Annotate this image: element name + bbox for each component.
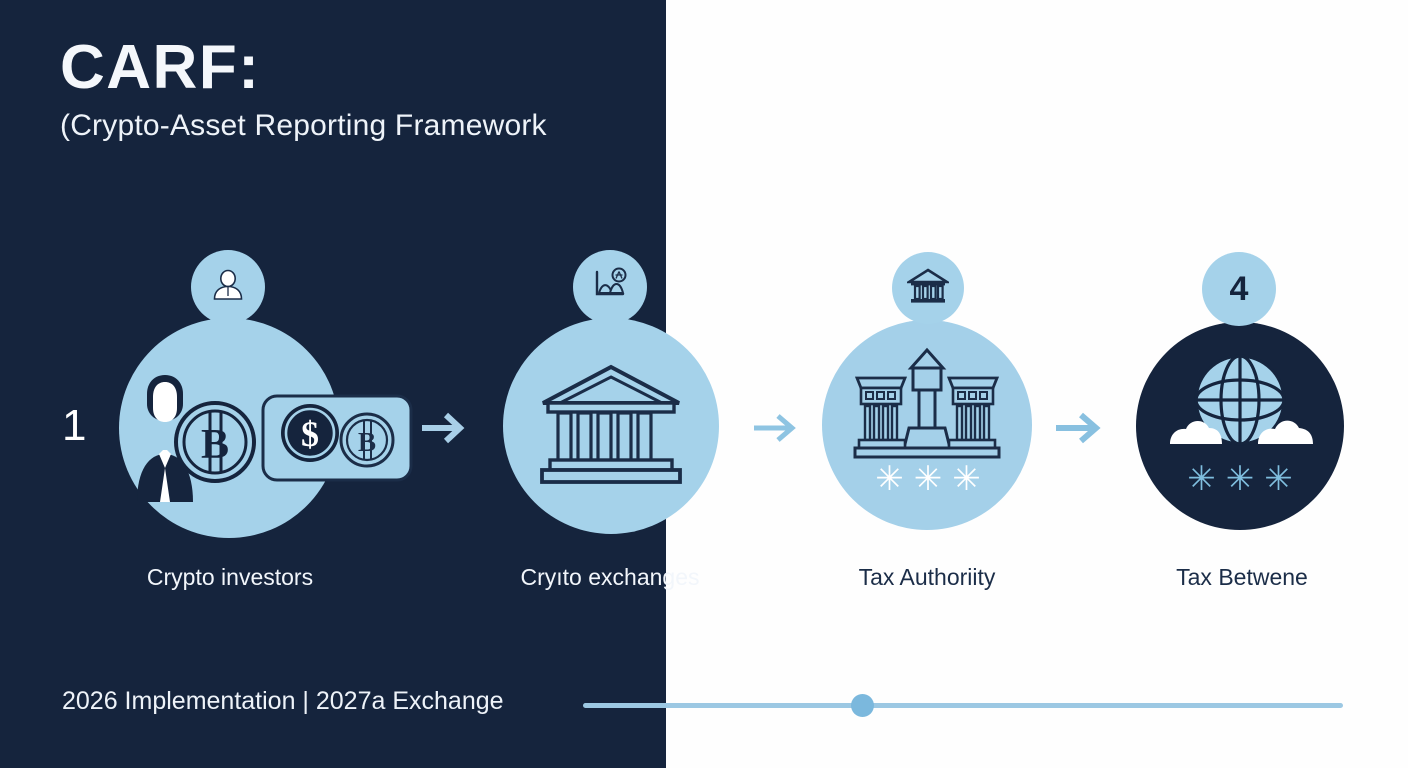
badge-number-4: 4: [1230, 272, 1249, 306]
infographic-canvas: CARF: (Crypto-Asset Reporting Framework …: [0, 0, 1408, 768]
title-block: CARF: (Crypto-Asset Reporting Framework: [60, 36, 547, 143]
footer-timeline-label: 2026 Implementation | 2027a Exchange: [62, 687, 504, 716]
node-1-circle: $ B B: [119, 318, 339, 538]
bank-icon: [907, 266, 949, 311]
asterisk-icon: ✳: [1226, 462, 1255, 496]
badge-node-1: [191, 250, 265, 324]
asterisk-icon: ✳: [914, 462, 943, 496]
svg-text:B: B: [201, 422, 229, 468]
step-number-left: 1: [62, 404, 86, 448]
asterisk-icon: ✳: [1187, 462, 1216, 496]
node-2-circle: [503, 318, 719, 534]
arrow-right-icon: [1053, 439, 1109, 456]
node-1-label: Crypto investors: [0, 566, 460, 589]
timeline-marker-dot[interactable]: [851, 694, 874, 717]
node-4-circle: [1136, 322, 1344, 530]
asterisk-icon: ✳: [875, 462, 904, 496]
page-title: CARF:: [60, 36, 547, 99]
asterisk-icon: ✳: [1264, 462, 1293, 496]
node-3-snowflake-glyphs: ✳ ✳ ✳: [890, 462, 966, 496]
flow-arrow-1: [418, 404, 474, 457]
timeline-line: [583, 703, 1343, 708]
svg-text:B: B: [358, 427, 376, 457]
svg-text:$: $: [301, 414, 319, 454]
node-3-circle: [822, 320, 1032, 530]
timeline-track[interactable]: [583, 703, 1343, 708]
person-icon: [208, 265, 248, 310]
arrow-right-icon: [752, 439, 804, 456]
chart-exchange-icon: [589, 264, 631, 311]
node-4-label: Tax Betwene: [1040, 566, 1408, 589]
bank-building-icon: [536, 359, 686, 494]
badge-node-4: 4: [1202, 252, 1276, 326]
node-4-snowflake-glyphs: ✳ ✳ ✳: [1196, 462, 1284, 496]
flow-arrow-2: [752, 404, 804, 457]
asterisk-icon: ✳: [952, 462, 981, 496]
arrow-right-icon: [418, 439, 474, 456]
page-subtitle: (Crypto-Asset Reporting Framework: [60, 109, 547, 143]
flow-arrow-3: [1053, 404, 1109, 457]
badge-node-2: [573, 250, 647, 324]
badge-node-3: [892, 252, 964, 324]
